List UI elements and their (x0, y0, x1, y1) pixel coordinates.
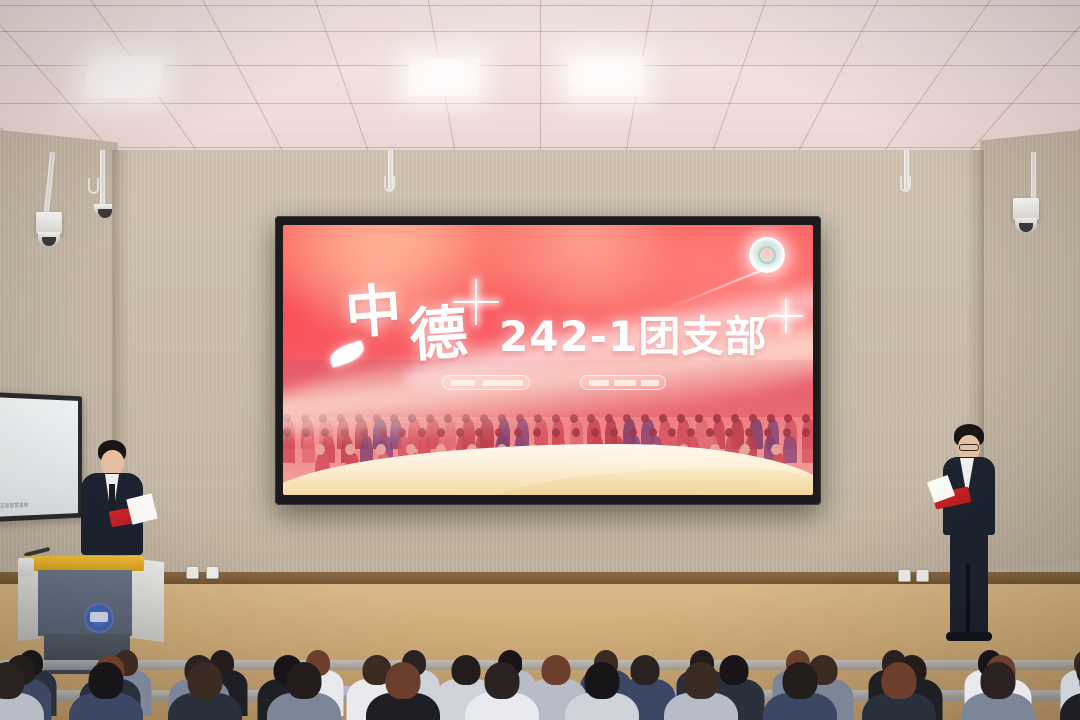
audience-member (168, 656, 242, 720)
lecture-hall-scene: 互动智慧黑板 (0, 0, 1080, 720)
left-whiteboard[interactable]: 互动智慧黑板 (0, 392, 82, 522)
school-emblem-icon (749, 237, 785, 273)
lectern-top-surface (24, 556, 145, 571)
ceiling-pole-right-a (904, 150, 909, 190)
panel-light-right (567, 56, 644, 96)
speaker-left-script (126, 493, 158, 525)
glasses-icon (959, 444, 979, 451)
seated-audience (0, 598, 1080, 720)
led-wall-screen[interactable]: 中 德 242-1团支部 (283, 225, 813, 495)
audience-member (664, 656, 738, 720)
speaker-left-tie (109, 484, 115, 510)
panel-light-center (407, 58, 481, 96)
wall-outlet-d[interactable] (916, 569, 929, 582)
audience-member (862, 656, 936, 720)
audience-member (366, 656, 440, 720)
calligraphy-zhong: 中 (342, 265, 406, 350)
audience-member (0, 656, 44, 720)
calligraphy-de: 德 (406, 285, 472, 373)
ceiling (0, 0, 1080, 168)
wall-outlet-b[interactable] (206, 566, 219, 579)
audience-member (267, 656, 341, 720)
audience-member (565, 656, 639, 720)
ceiling-tile-grid (0, 0, 1080, 168)
wall-outlet-c[interactable] (898, 569, 911, 582)
lectern-top-corner (18, 558, 34, 576)
ceiling-hook-left (88, 178, 99, 194)
audience-member (961, 656, 1035, 720)
wall-outlet-a[interactable] (186, 566, 199, 579)
audience-member (465, 656, 539, 720)
whiteboard-caption: 互动智慧黑板 (0, 502, 29, 510)
panel-light-left (82, 56, 165, 98)
audience-member (763, 656, 837, 720)
display-headline: 242-1团支部 (499, 303, 767, 364)
screen-swirl-2 (463, 225, 707, 306)
audience-member (1060, 656, 1080, 720)
audience-member (69, 656, 143, 720)
ceiling-pole-center (388, 150, 393, 190)
led-wall-frame[interactable]: 中 德 242-1团支部 (275, 216, 821, 505)
